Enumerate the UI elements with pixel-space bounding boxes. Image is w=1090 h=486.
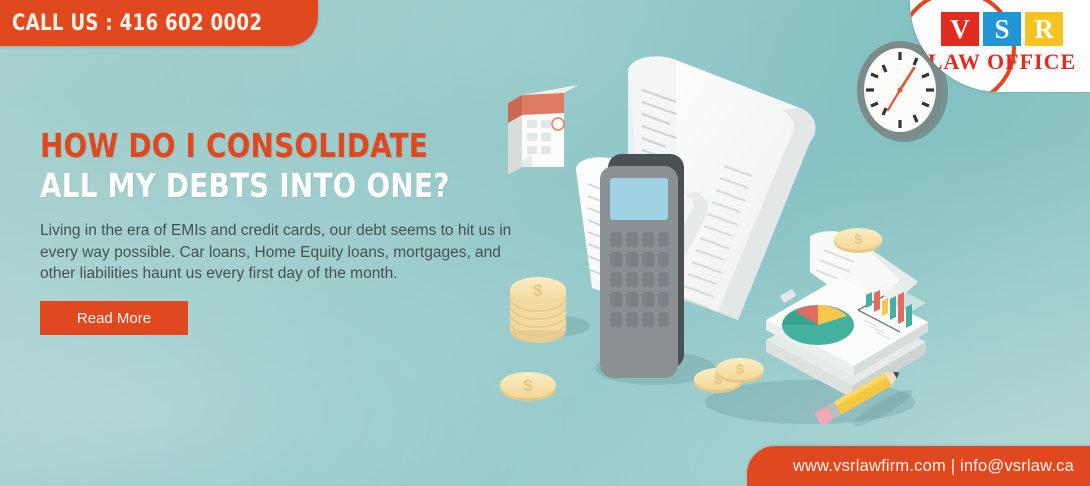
headline-line-1: HOW DO I CONSOLIDATE [40, 126, 510, 166]
footer-contact-text: www.vsrlawfirm.com | info@vsrlaw.ca [793, 457, 1074, 476]
headline-line-2: ALL MY DEBTS INTO ONE? [40, 166, 510, 206]
call-us-bar[interactable]: CALL US : 416 602 0002 [0, 0, 318, 46]
logo-letters: V S R [922, 12, 1082, 46]
svg-text:$: $ [736, 361, 744, 377]
calculator-icon [600, 154, 684, 378]
report-document [766, 277, 928, 398]
logo-letter-r: R [1025, 12, 1063, 46]
promo-banner: $ $ $ $ $ [0, 0, 1090, 486]
svg-text:$: $ [523, 376, 533, 395]
contact-footer-bar[interactable]: www.vsrlawfirm.com | info@vsrlaw.ca [747, 446, 1090, 486]
logo-letter-s: S [983, 12, 1021, 46]
logo-panel[interactable]: V S R LAW OFFICE [910, 0, 1090, 92]
body-paragraph: Living in the era of EMIs and credit car… [40, 220, 518, 285]
logo-subtitle: LAW OFFICE [922, 49, 1082, 75]
read-more-button[interactable]: Read More [40, 301, 188, 335]
call-us-text: CALL US : 416 602 0002 [12, 11, 262, 36]
headline-block: HOW DO I CONSOLIDATE ALL MY DEBTS INTO O… [40, 126, 540, 285]
coin-single-icon: $ [500, 372, 556, 401]
coin-stack-icon: $ $ [500, 277, 566, 401]
coin-floating-icon: $ [834, 228, 882, 253]
svg-text:$: $ [854, 231, 862, 247]
pie-chart [782, 305, 854, 345]
logo-letter-v: V [941, 12, 979, 46]
